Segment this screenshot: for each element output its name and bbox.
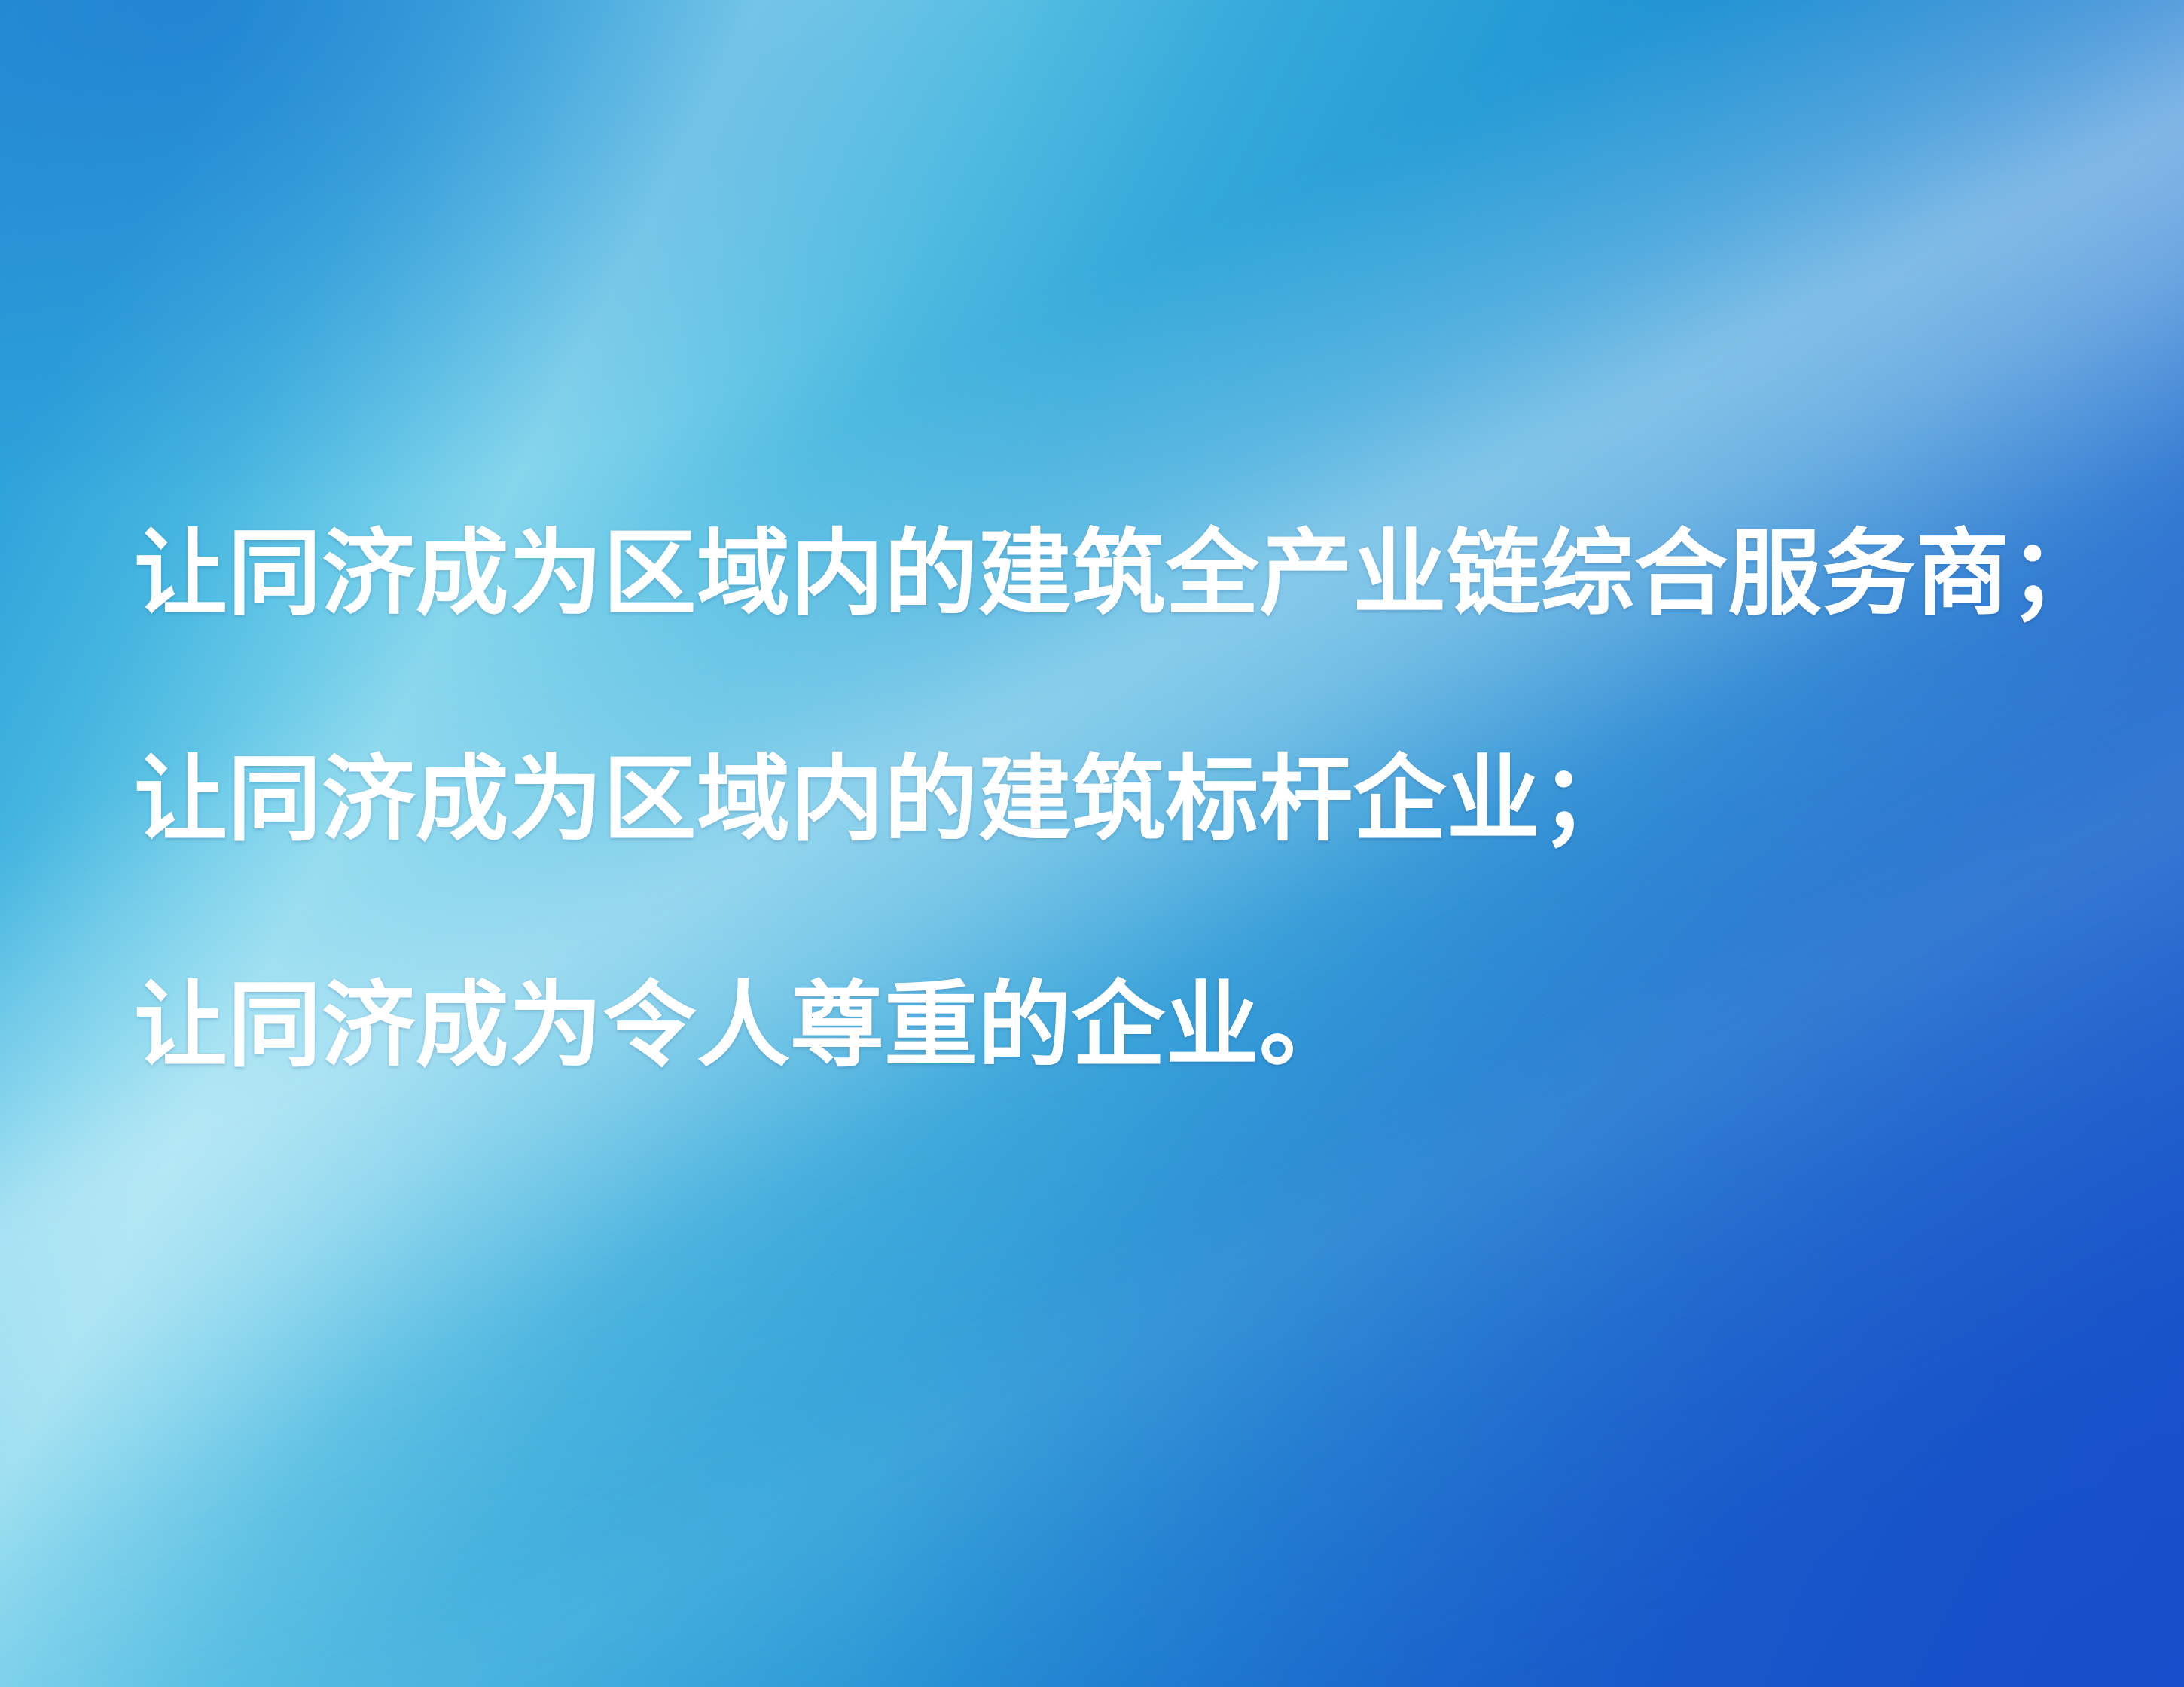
- slide-line-1: 让同济成为区域内的建筑全产业链综合服务商；: [134, 461, 2122, 687]
- slide-line-3: 让同济成为令人尊重的企业。: [134, 913, 2122, 1139]
- slide-text-block: 让同济成为区域内的建筑全产业链综合服务商； 让同济成为区域内的建筑标杆企业； 让…: [134, 461, 2122, 1139]
- background-corner-shade-top-left: [0, 0, 1005, 506]
- slide-line-2: 让同济成为区域内的建筑标杆企业；: [134, 687, 2122, 913]
- slide-canvas: 让同济成为区域内的建筑全产业链综合服务商； 让同济成为区域内的建筑标杆企业； 让…: [0, 0, 2184, 1687]
